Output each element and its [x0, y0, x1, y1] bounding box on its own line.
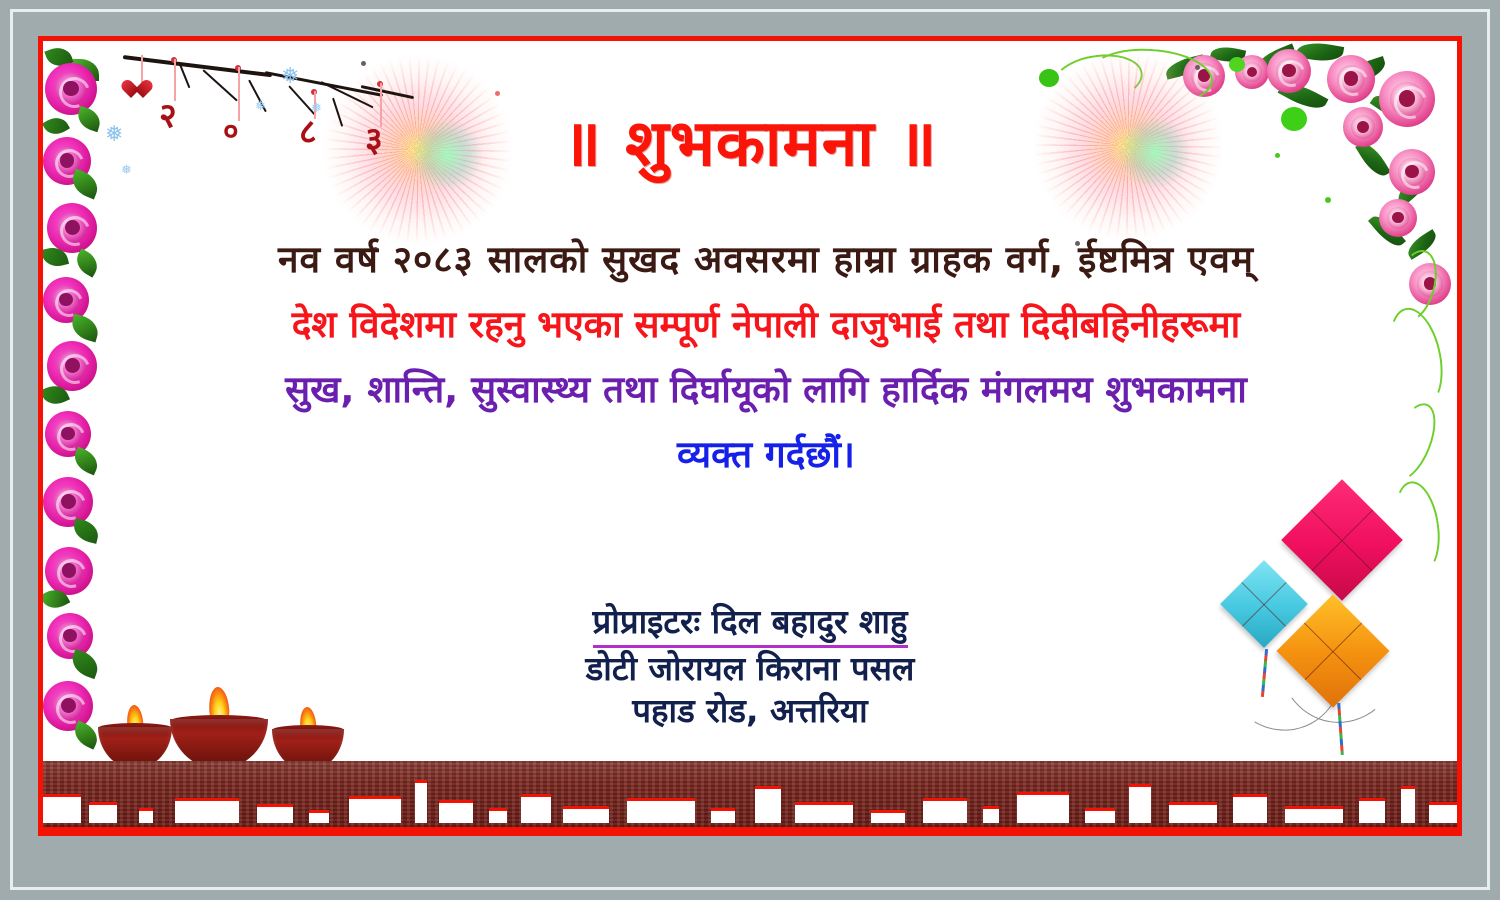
proprietor-name: प्रोप्राइटरः दिल बहादुर शाहु [593, 601, 908, 648]
rose-flower [1267, 49, 1311, 93]
rose-flower [1327, 55, 1375, 103]
rose-flower [47, 341, 97, 391]
card-canvas: २ ० ८ ३ ❅ ❅ ❅ ❅ ❅ ॥ शुभकामना ॥ नव वर् [43, 41, 1457, 831]
rose-flower [47, 203, 97, 253]
hanging-string [174, 59, 176, 101]
green-dot [1325, 197, 1331, 203]
snowflake-icon: ❅ [281, 65, 299, 87]
message-block: नव वर्ष २०८३ सालको सुखद अवसरमा हाम्रा ग्… [105, 241, 1427, 501]
diya-right [272, 707, 344, 767]
city-skyline-band [43, 761, 1457, 831]
message-line: व्यक्त गर्दछौं। [105, 436, 1427, 473]
diya-center [170, 687, 268, 767]
kite-group [1227, 503, 1437, 733]
leaf [72, 248, 101, 277]
diya-left [98, 705, 172, 767]
leaf [69, 314, 101, 343]
diya-group [98, 683, 358, 767]
message-line: देश विदेशमा रहनु भएका सम्पूर्ण नेपाली दा… [105, 306, 1427, 343]
outer-frame: २ ० ८ ३ ❅ ❅ ❅ ❅ ❅ ॥ शुभकामना ॥ नव वर् [0, 0, 1500, 900]
rose-flower [45, 547, 93, 595]
message-line: नव वर्ष २०८३ सालको सुखद अवसरमा हाम्रा ग्… [105, 241, 1427, 278]
rose-flower [1379, 199, 1417, 237]
spark-dot [1195, 65, 1200, 70]
message-line: सुख, शान्ति, सुस्वास्थ्य तथा दिर्घायूको … [105, 371, 1427, 408]
green-dot [1229, 57, 1245, 72]
greeting-card: २ ० ८ ३ ❅ ❅ ❅ ❅ ❅ ॥ शुभकामना ॥ नव वर् [38, 36, 1462, 836]
rose-flower [43, 477, 93, 527]
card-title: ॥ शुभकामना ॥ [43, 97, 1457, 184]
branch-twig [123, 55, 272, 77]
hanging-string [141, 55, 143, 83]
leaf [71, 518, 101, 544]
